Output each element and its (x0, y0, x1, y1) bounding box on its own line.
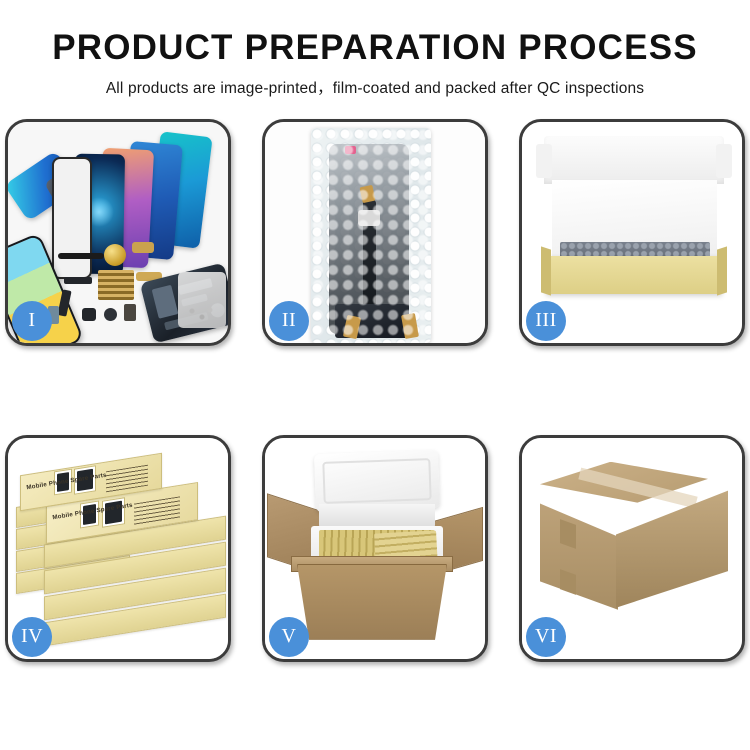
step-badge-4: IV (12, 617, 52, 657)
part-chip-grid (98, 270, 134, 300)
chassis-battery (152, 285, 179, 319)
process-step-4: Mobile Phone Spare Parts Mobile Phone Sp… (5, 435, 231, 662)
part-camera (124, 304, 136, 321)
part-gold-coil (104, 244, 126, 266)
process-step-1: I (5, 119, 231, 346)
process-step-2: II (262, 119, 488, 346)
product-preparation-page: PRODUCT PREPARATION PROCESS All products… (0, 0, 750, 750)
carton-left-face (540, 492, 618, 610)
carton-tape-tab-upper (560, 519, 576, 549)
foam-box-lid (314, 450, 440, 512)
process-step-5: V (262, 435, 488, 662)
bubble-wrap-bag (311, 128, 431, 343)
step-badge-6: VI (526, 617, 566, 657)
page-subtitle: All products are image-printed，film-coat… (0, 76, 750, 98)
step-badge-1: I (12, 301, 52, 341)
phone-screen-glass (52, 157, 92, 279)
box-lid-top (544, 136, 724, 184)
step-badge-3: III (526, 301, 566, 341)
process-steps-grid: I II (10, 119, 740, 662)
process-step-6: VI (519, 435, 745, 662)
carton-body (297, 564, 447, 640)
step-badge-2: II (269, 301, 309, 341)
retail-box-stack: Mobile Phone Spare Parts Mobile Phone Sp… (14, 458, 226, 648)
part-connector (64, 277, 92, 284)
bubble-texture-overlay (311, 128, 431, 343)
page-title: PRODUCT PREPARATION PROCESS (0, 30, 750, 67)
part-module (82, 308, 96, 321)
yellow-box-base (546, 256, 722, 294)
part-speaker (104, 308, 117, 321)
part-gold-clip (132, 242, 154, 253)
screws-group (188, 307, 214, 325)
step-badge-5: V (269, 617, 309, 657)
page-header: PRODUCT PREPARATION PROCESS All products… (0, 0, 750, 98)
carton-right-face (616, 486, 728, 608)
part-strip (58, 253, 104, 259)
process-step-3: III (519, 119, 745, 346)
